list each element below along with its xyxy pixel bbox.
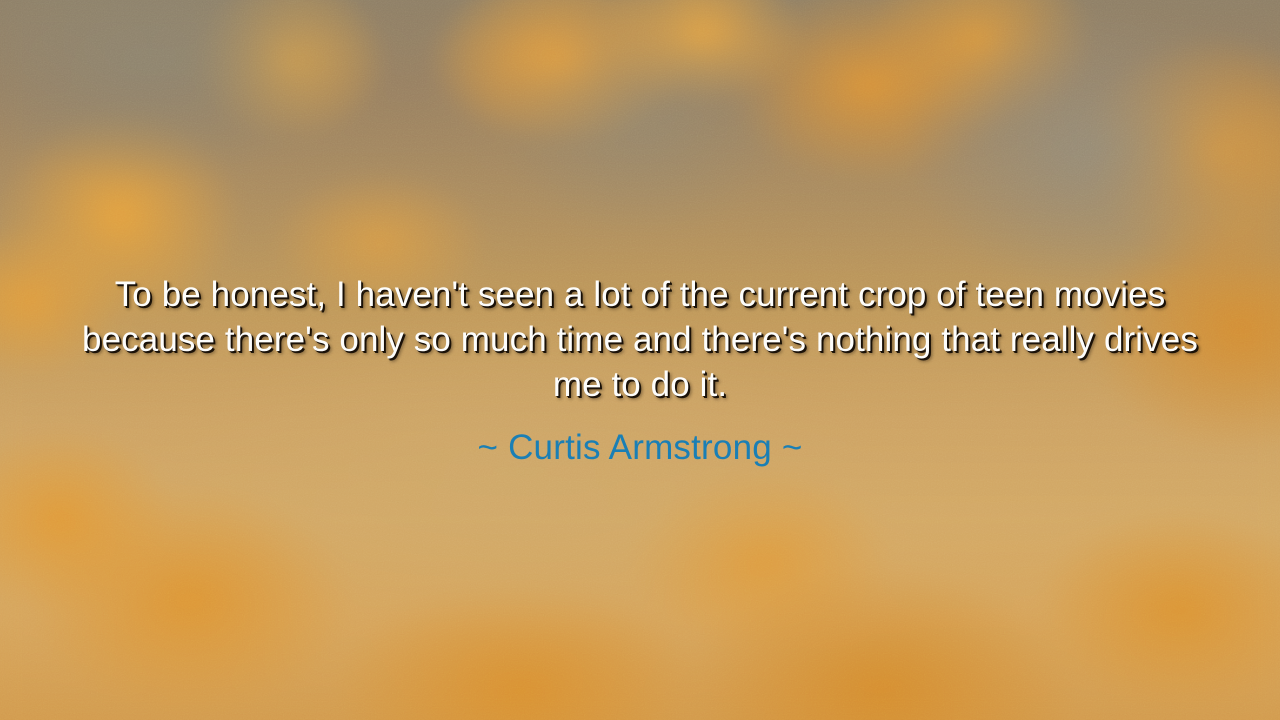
quote-text: To be honest, I haven't seen a lot of th… (80, 272, 1200, 407)
quote-card: To be honest, I haven't seen a lot of th… (0, 0, 1280, 720)
quote-block: To be honest, I haven't seen a lot of th… (0, 272, 1280, 470)
quote-attribution: ~ Curtis Armstrong ~ (60, 426, 1220, 470)
